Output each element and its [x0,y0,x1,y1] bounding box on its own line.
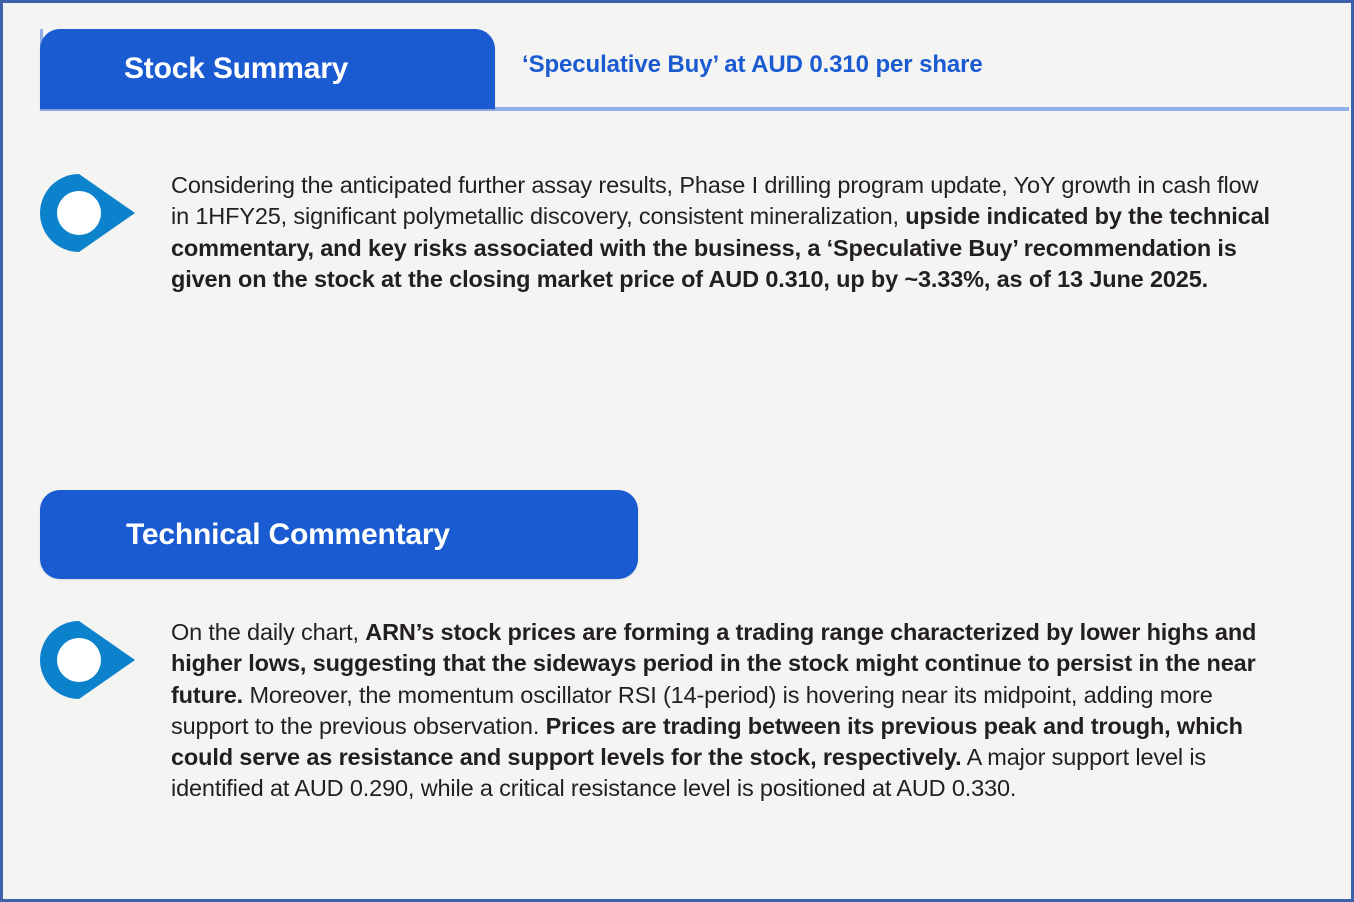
pin-marker-icon [40,621,144,699]
recommendation-badge: ‘Speculative Buy’ at AUD 0.310 per share [522,51,983,79]
stock-summary-paragraph: Considering the anticipated further assa… [144,168,1270,295]
tab-stock-summary-label: Stock Summary [40,52,348,86]
stock-summary-bullet: Considering the anticipated further assa… [40,168,1270,295]
technical-commentary-paragraph: On the daily chart, ARN’s stock prices a… [144,615,1270,805]
section-technical-commentary[interactable]: Technical Commentary [40,490,638,579]
technical-commentary-bullet: On the daily chart, ARN’s stock prices a… [40,615,1270,805]
section-technical-commentary-label: Technical Commentary [40,518,450,552]
report-page: Stock Summary ‘Speculative Buy’ at AUD 0… [0,0,1354,902]
pin-marker-icon [40,174,144,252]
tab-stock-summary[interactable]: Stock Summary [40,29,495,109]
stock-summary-header: Stock Summary ‘Speculative Buy’ at AUD 0… [3,3,1351,111]
